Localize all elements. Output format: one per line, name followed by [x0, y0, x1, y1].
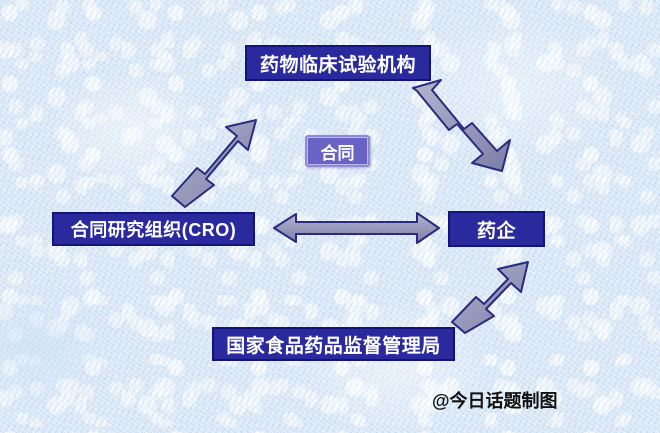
node-pharmaceutical-company[interactable]: 药企 [448, 211, 545, 247]
watermark-credit: @今日话题制图 [432, 387, 558, 413]
arrow-cfda-pharma [452, 262, 528, 333]
node-clinical-trial-institution[interactable]: 药物临床试验机构 [245, 45, 431, 81]
node-contract-research-organization[interactable]: 合同研究组织(CRO) [52, 212, 255, 246]
diagram-canvas: 药物临床试验机构 (diagonal, lower-left to upper-… [0, 0, 660, 433]
arrow-cro-institution [172, 120, 256, 207]
arrow-institution-pharma [413, 80, 510, 171]
arrow-cro-pharma [274, 213, 439, 243]
label-contract: 合同 [305, 135, 370, 167]
node-cfda-authority[interactable]: 国家食品药品监督管理局 [212, 327, 455, 361]
